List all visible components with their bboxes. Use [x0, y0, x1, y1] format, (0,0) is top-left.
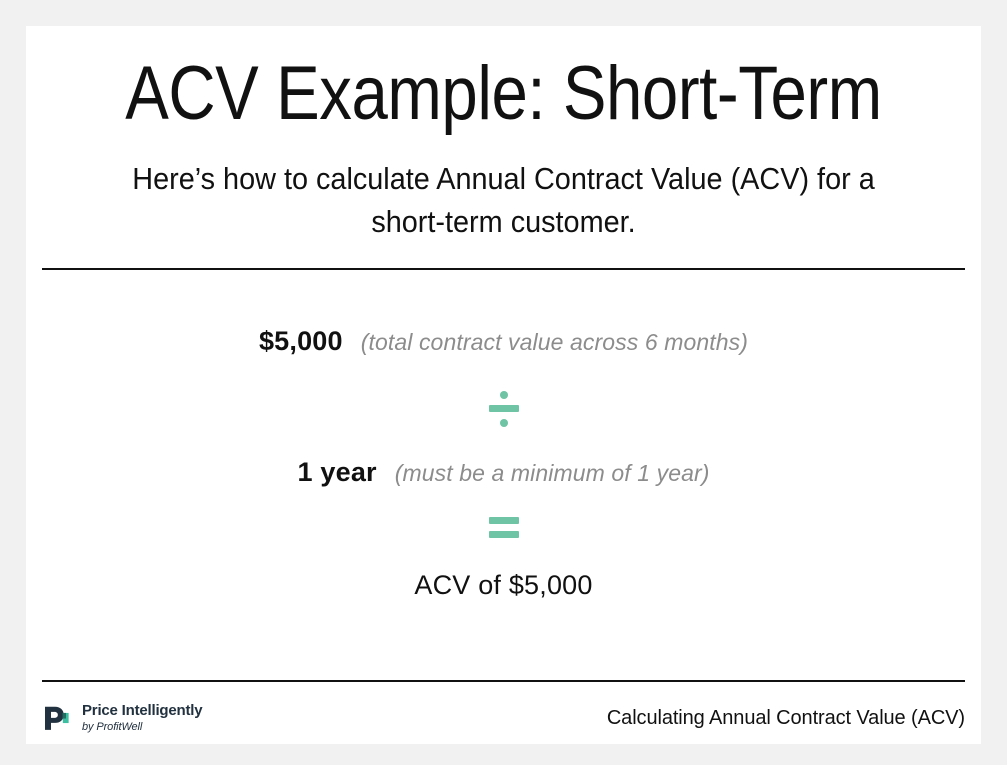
numerator-note: (total contract value across 6 months) [361, 329, 748, 356]
equation-block: $5,000 (total contract value across 6 mo… [26, 326, 981, 601]
equation-denominator-row: 1 year (must be a minimum of 1 year) [26, 457, 981, 488]
division-icon [489, 387, 519, 431]
divider-top [42, 268, 965, 270]
equation-result: ACV of $5,000 [26, 570, 981, 601]
page-title: ACV Example: Short-Term [93, 56, 914, 132]
equals-icon [489, 514, 519, 544]
equation-numerator-row: $5,000 (total contract value across 6 mo… [26, 326, 981, 357]
price-intelligently-logo-icon [42, 703, 72, 733]
footer-caption: Calculating Annual Contract Value (ACV) [607, 707, 965, 730]
division-dot-upper [500, 391, 508, 399]
spacer-after-divide [26, 431, 981, 457]
denominator-note: (must be a minimum of 1 year) [395, 460, 710, 487]
spacer-after-denominator [26, 488, 981, 514]
equals-bar-top [489, 517, 519, 524]
equals-bar-bottom [489, 531, 519, 538]
spacer-after-equals [26, 544, 981, 570]
brand-logo: Price Intelligently by ProfitWell [42, 703, 202, 733]
page-subtitle: Here’s how to calculate Annual Contract … [115, 158, 892, 244]
brand-text: Price Intelligently by ProfitWell [82, 703, 202, 733]
division-dot-lower [500, 419, 508, 427]
numerator-value: $5,000 [259, 326, 343, 357]
footer: Price Intelligently by ProfitWell Calcul… [42, 694, 965, 742]
brand-name: Price Intelligently [82, 703, 202, 720]
denominator-value: 1 year [297, 457, 376, 488]
spacer-after-numerator [26, 357, 981, 387]
brand-subtitle: by ProfitWell [82, 721, 202, 733]
divider-bottom [42, 680, 965, 682]
division-bar [489, 405, 519, 412]
slide-card: ACV Example: Short-Term Here’s how to ca… [26, 26, 981, 744]
